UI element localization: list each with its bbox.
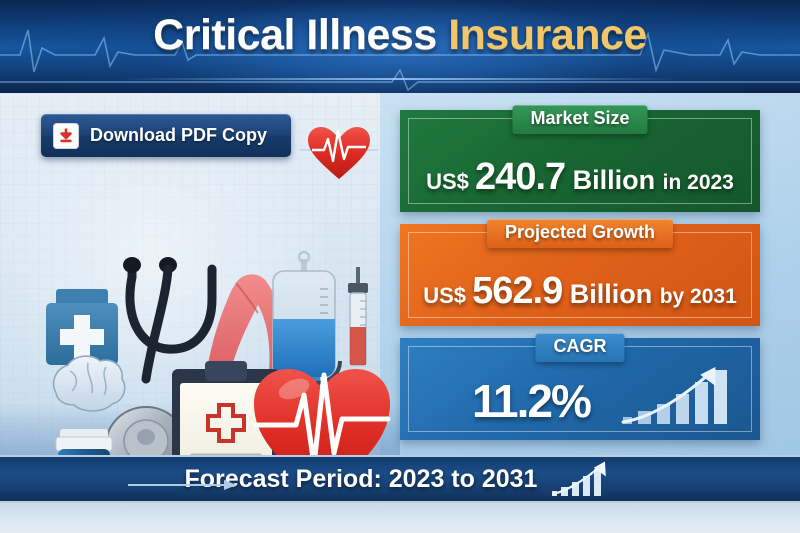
right-arrow-icon — [128, 479, 238, 491]
projected-growth-card[interactable]: Projected Growth US$ 562.9 Billion by 20… — [400, 224, 760, 326]
forecast-period-bar: Forecast Period: 2023 to 2031 — [0, 455, 800, 503]
projected-growth-currency: US$ — [423, 283, 472, 308]
title-accent: Insurance — [448, 11, 647, 59]
market-size-unit: Billion — [565, 165, 663, 195]
bottom-strip — [0, 503, 800, 533]
medical-cross-box-icon — [46, 289, 118, 365]
heart-ekg-icon — [300, 127, 378, 179]
download-pdf-button[interactable]: Download PDF Copy — [41, 114, 291, 157]
projected-growth-unit: Billion — [562, 279, 660, 309]
growth-bar-chart-icon — [551, 461, 615, 497]
projected-growth-year: by 2031 — [660, 285, 737, 308]
market-size-year: in 2023 — [663, 171, 734, 194]
market-size-number: 240.7 — [475, 156, 565, 198]
market-size-currency: US$ — [426, 169, 475, 194]
market-size-card[interactable]: Market Size US$ 240.7 Billion in 2023 — [400, 110, 760, 212]
infographic-canvas: Critical Illness Insurance — [0, 0, 800, 533]
cagr-chip: CAGR — [536, 333, 625, 362]
pill-bottle-icon — [56, 429, 112, 455]
projected-growth-chip: Projected Growth — [487, 219, 673, 248]
download-pdf-label: Download PDF Copy — [90, 125, 267, 146]
projected-growth-value: US$ 562.9 Billion by 2031 — [400, 272, 760, 310]
market-size-chip: Market Size — [512, 105, 647, 134]
page-title: Critical Illness Insurance — [0, 14, 800, 57]
cagr-value: 11.2% — [472, 375, 590, 427]
growth-bar-chart-icon — [621, 358, 736, 428]
large-heart-ekg-icon — [254, 369, 390, 455]
cagr-card[interactable]: CAGR 11.2% — [400, 338, 760, 440]
market-size-value: US$ 240.7 Billion in 2023 — [400, 158, 760, 196]
title-primary: Critical Illness — [153, 11, 448, 59]
projected-growth-number: 562.9 — [472, 270, 562, 312]
title-underline — [120, 78, 680, 80]
header-banner: Critical Illness Insurance — [0, 0, 800, 93]
syringe-icon — [348, 267, 368, 365]
download-arrow-icon — [53, 123, 79, 149]
